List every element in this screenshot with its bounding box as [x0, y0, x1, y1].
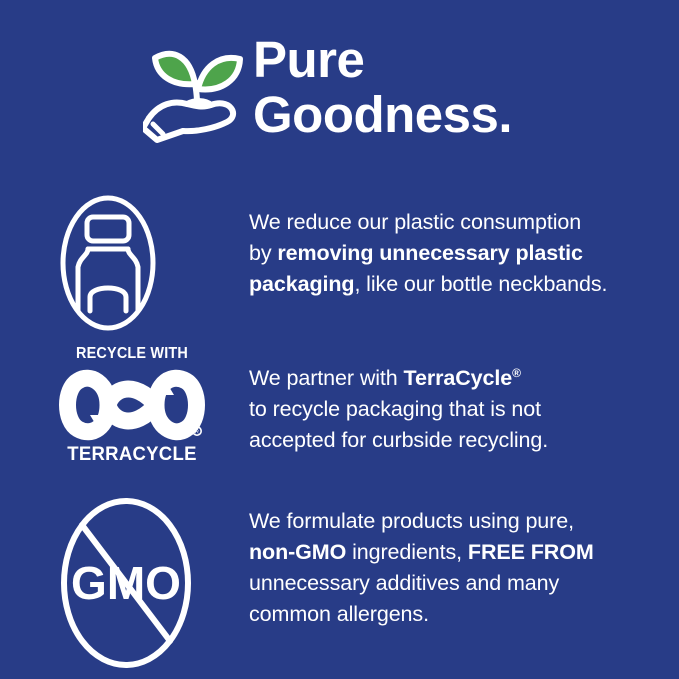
page-title-line-2: Goodness.: [253, 87, 653, 142]
feature-text-terracycle: We partner with TerraCycle® to recycle p…: [249, 363, 669, 456]
feature-line: unnecessary additives and many: [249, 568, 669, 599]
terracycle-logo-top-text: RECYCLE WITH: [63, 345, 201, 363]
header: Pure Goodness.: [0, 0, 679, 175]
terracycle-infinity-mark-icon: R: [58, 369, 206, 441]
bottle-in-circle-icon: [58, 193, 158, 333]
terracycle-logo-icon: RECYCLE WITH: [58, 345, 206, 467]
no-gmo-label: GMO: [71, 557, 181, 609]
feature-row-terracycle: RECYCLE WITH: [0, 345, 679, 480]
hand-holding-sprout-icon: [143, 32, 251, 144]
feature-text-plastic: We reduce our plastic consumption by rem…: [249, 207, 669, 300]
terracycle-logo-bottom-text: TERRACYCLE: [62, 443, 203, 466]
feature-line: We reduce our plastic consumption: [249, 207, 669, 238]
no-gmo-icon: GMO: [58, 495, 194, 671]
svg-text:R: R: [195, 430, 199, 436]
feature-line: packaging, like our bottle neckbands.: [249, 269, 669, 300]
feature-line: non-GMO ingredients, FREE FROM: [249, 537, 669, 568]
feature-row-plastic: We reduce our plastic consumption by rem…: [0, 193, 679, 333]
page-title-line-1: Pure: [253, 32, 653, 87]
feature-row-gmo: GMO We formulate products using pure, no…: [0, 495, 679, 675]
feature-text-gmo: We formulate products using pure, non-GM…: [249, 506, 669, 630]
feature-line: by removing unnecessary plastic: [249, 238, 669, 269]
infographic-canvas: Pure Goodness.: [0, 0, 679, 679]
feature-line: common allergens.: [249, 599, 669, 630]
feature-line: We formulate products using pure,: [249, 506, 669, 537]
feature-line: to recycle packaging that is not: [249, 394, 669, 425]
page-title: Pure Goodness.: [253, 32, 653, 142]
feature-line: We partner with TerraCycle®: [249, 363, 669, 394]
feature-line: accepted for curbside recycling.: [249, 425, 669, 456]
